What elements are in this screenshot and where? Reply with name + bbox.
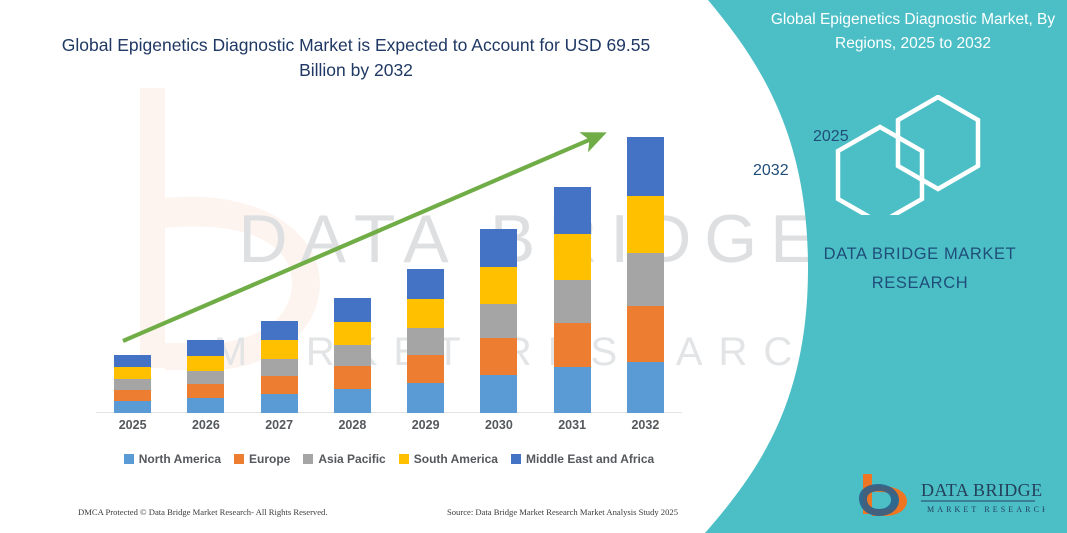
bar-segment[interactable] [187, 356, 224, 371]
chart-panel: Global Epigenetics Diagnostic Market is … [0, 0, 712, 533]
x-axis-tick-2025: 2025 [96, 418, 169, 432]
brand-wordmark-line-1: DATA BRIDGE MARKET [790, 240, 1050, 269]
footer-source: Source: Data Bridge Market Research Mark… [447, 507, 678, 517]
bar-segment[interactable] [407, 383, 444, 413]
bar-segment[interactable] [187, 398, 224, 413]
bar-slot [243, 110, 316, 413]
legend-item[interactable]: South America [399, 452, 498, 466]
bar-slot [462, 110, 535, 413]
legend-swatch-icon [303, 454, 313, 464]
legend-label: South America [414, 452, 498, 466]
bar-segment[interactable] [261, 394, 298, 413]
legend-item[interactable]: Middle East and Africa [511, 452, 654, 466]
data-bridge-logo: DATA BRIDGE MARKET RESEARCH [855, 470, 1045, 520]
x-axis-tick-2030: 2030 [462, 418, 535, 432]
bar-segment[interactable] [261, 359, 298, 376]
legend-swatch-icon [399, 454, 409, 464]
bar-segment[interactable] [407, 299, 444, 328]
bar-segment[interactable] [480, 304, 517, 338]
bar-segment[interactable] [114, 401, 151, 413]
bar-segment[interactable] [627, 253, 664, 306]
footer-copyright: DMCA Protected © Data Bridge Market Rese… [78, 507, 328, 517]
legend-swatch-icon [234, 454, 244, 464]
bar-segment[interactable] [407, 355, 444, 383]
bar-segment[interactable] [187, 384, 224, 398]
stacked-bar[interactable] [627, 137, 664, 413]
brand-wordmark: DATA BRIDGE MARKET RESEARCH [790, 240, 1050, 298]
logo-name: DATA BRIDGE [921, 480, 1042, 500]
bar-segment[interactable] [480, 267, 517, 304]
x-axis-labels: 20252026202720282029203020312032 [96, 418, 682, 432]
legend-label: Europe [249, 452, 290, 466]
x-axis-tick-2032: 2032 [609, 418, 682, 432]
bar-group [96, 110, 682, 413]
bar-segment[interactable] [334, 366, 371, 388]
legend-label: Asia Pacific [318, 452, 385, 466]
bar-segment[interactable] [407, 328, 444, 355]
bar-segment[interactable] [627, 137, 664, 196]
bar-slot [96, 110, 169, 413]
bar-segment[interactable] [334, 322, 371, 346]
legend-swatch-icon [511, 454, 521, 464]
bar-segment[interactable] [554, 323, 591, 367]
legend-label: Middle East and Africa [526, 452, 654, 466]
bar-segment[interactable] [480, 375, 517, 414]
logo-tagline: MARKET RESEARCH [927, 505, 1045, 514]
infographic-root: DATA BRIDGE MARKET RESEARCH Global Epige… [0, 0, 1067, 533]
stacked-bar[interactable] [554, 187, 591, 413]
bar-segment[interactable] [480, 229, 517, 267]
bar-segment[interactable] [261, 340, 298, 359]
page-title: Global Epigenetics Diagnostic Market is … [52, 33, 660, 83]
right-panel-title: Global Epigenetics Diagnostic Market, By… [768, 8, 1058, 56]
stacked-bar[interactable] [407, 269, 444, 413]
bar-slot [316, 110, 389, 413]
bar-segment[interactable] [187, 371, 224, 384]
legend-label: North America [139, 452, 221, 466]
x-axis-tick-2028: 2028 [316, 418, 389, 432]
stacked-bar[interactable] [114, 355, 151, 413]
footer: DMCA Protected © Data Bridge Market Rese… [78, 507, 678, 517]
bar-segment[interactable] [554, 187, 591, 234]
bar-segment[interactable] [407, 269, 444, 299]
legend-item[interactable]: Europe [234, 452, 290, 466]
stacked-bar[interactable] [187, 340, 224, 413]
x-axis-tick-2029: 2029 [389, 418, 462, 432]
bar-segment[interactable] [114, 390, 151, 401]
data-bridge-b-icon [859, 474, 907, 516]
bar-segment[interactable] [554, 234, 591, 280]
chart-plot-area [96, 110, 682, 413]
right-panel-content: Global Epigenetics Diagnostic Market, By… [690, 0, 1067, 533]
bar-segment[interactable] [554, 280, 591, 323]
bar-segment[interactable] [480, 338, 517, 374]
hex-badge-2032-label: 2032 [753, 162, 789, 180]
bar-segment[interactable] [187, 340, 224, 355]
x-axis-tick-2027: 2027 [243, 418, 316, 432]
stacked-bar[interactable] [261, 321, 298, 413]
bar-segment[interactable] [627, 362, 664, 413]
bar-slot [536, 110, 609, 413]
bar-slot [169, 110, 242, 413]
chart-legend: North AmericaEuropeAsia PacificSouth Ame… [96, 452, 682, 466]
legend-item[interactable]: Asia Pacific [303, 452, 385, 466]
hex-badge-2025-label: 2025 [813, 128, 849, 146]
bar-segment[interactable] [334, 345, 371, 366]
stacked-bar[interactable] [334, 297, 371, 413]
bar-segment[interactable] [114, 379, 151, 389]
legend-item[interactable]: North America [124, 452, 221, 466]
right-teal-panel: Global Epigenetics Diagnostic Market, By… [690, 0, 1067, 533]
x-axis-tick-2031: 2031 [536, 418, 609, 432]
bar-segment[interactable] [261, 321, 298, 340]
brand-wordmark-line-2: RESEARCH [790, 269, 1050, 298]
bar-segment[interactable] [114, 367, 151, 379]
bar-segment[interactable] [114, 355, 151, 367]
bar-segment[interactable] [627, 306, 664, 362]
stacked-bar[interactable] [480, 228, 517, 413]
bar-slot [609, 110, 682, 413]
bar-segment[interactable] [334, 389, 371, 413]
bar-segment[interactable] [627, 196, 664, 253]
bar-segment[interactable] [554, 367, 591, 413]
hexagon-badges-group [810, 95, 1010, 215]
bar-segment[interactable] [334, 298, 371, 322]
legend-swatch-icon [124, 454, 134, 464]
bar-slot [389, 110, 462, 413]
x-axis-tick-2026: 2026 [169, 418, 242, 432]
bar-segment[interactable] [261, 376, 298, 394]
